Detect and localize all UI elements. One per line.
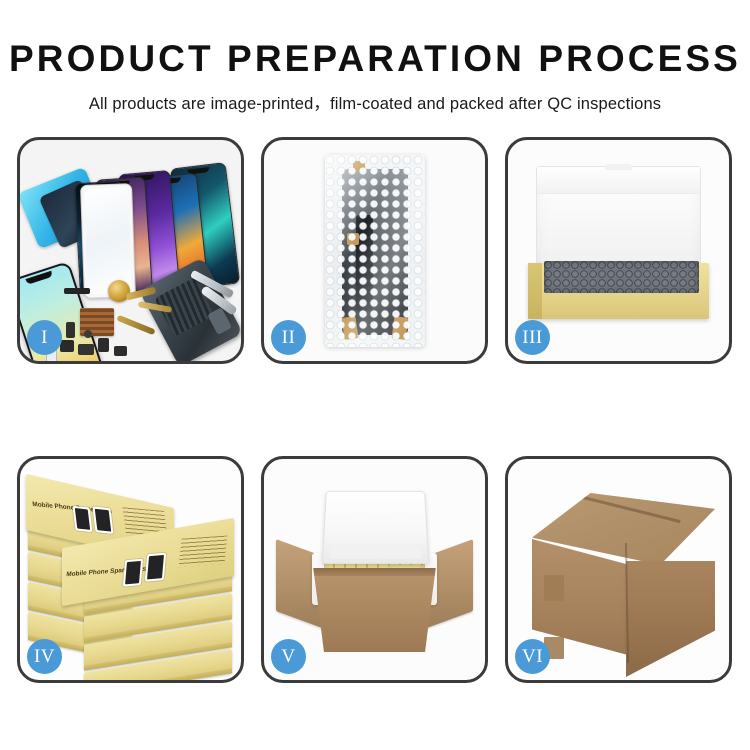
bag-sheen-icon [325,155,425,347]
box-spec-lines-2 [179,535,228,567]
step-badge-1: I [27,320,62,355]
step-badge-5: V [271,639,306,674]
step-badge-6: VI [515,639,550,674]
packed-items-icon [544,261,699,293]
sealed-carton-icon [526,493,715,654]
step-badge-2: II [271,320,306,355]
box-art-phone-1 [73,506,93,532]
carton-tape-patch-1-icon [544,575,564,601]
component-2-icon [78,344,94,355]
open-carton-icon [278,487,471,658]
foam-lid-open-icon [322,491,429,564]
header: PRODUCT PREPARATION PROCESS All products… [0,0,750,114]
component-3-icon [98,338,109,352]
process-steps-grid: I II [17,137,733,685]
component-5-icon [114,346,127,356]
bubble-wrap-bag-icon [325,155,425,347]
process-step-3[interactable]: III [505,137,732,364]
box-edge [84,668,232,680]
box-art-phone-3 [123,559,143,587]
page-subtitle: All products are image-printed，film-coat… [0,90,750,114]
notch-icon [25,271,53,285]
open-inner-box-icon [528,160,709,319]
carton-side-face-icon [626,561,715,677]
process-step-2[interactable]: II [261,137,488,364]
page-title: PRODUCT PREPARATION PROCESS [0,40,750,77]
component-1-icon [60,340,74,352]
box-stack-icon: Mobile Phone Spare Parts Mobile Phone Sp… [26,481,235,670]
earpiece-bar-icon [64,288,90,294]
process-step-5[interactable]: V [261,456,488,683]
process-step-6[interactable]: VI [505,456,732,683]
step-badge-3: III [515,320,550,355]
box-art-phone-2 [93,506,114,533]
component-4-icon [66,322,75,338]
process-step-1[interactable]: I [17,137,244,364]
flex-cable-3-icon [116,315,155,336]
component-6-icon [84,330,92,338]
step-badge-4: IV [27,639,62,674]
box-art-phone-4 [145,553,166,582]
carton-body-icon [308,568,441,652]
process-step-4[interactable]: Mobile Phone Spare Parts Mobile Phone Sp… [17,456,244,683]
glass-protector-icon [80,183,136,299]
product-preparation-infographic: PRODUCT PREPARATION PROCESS All products… [0,0,750,750]
